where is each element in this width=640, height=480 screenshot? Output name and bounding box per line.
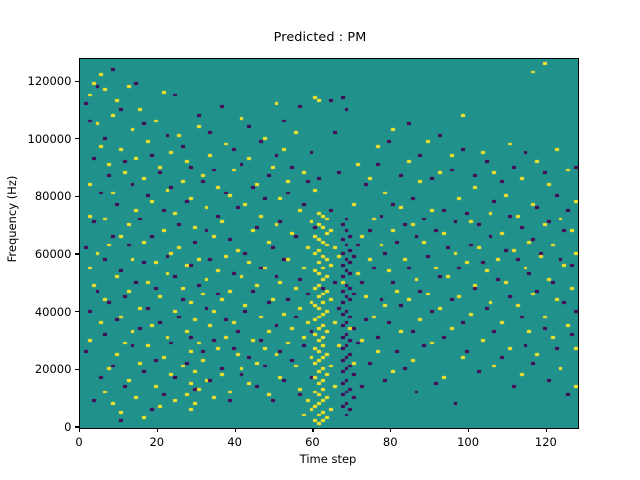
x-tick-label: 0 [75,435,82,449]
y-axis-label: Frequency (Hz) [5,0,19,459]
x-tick-label: 40 [227,435,242,449]
heatmap-canvas [80,59,578,428]
x-tick-label: 100 [457,435,479,449]
page-title: Predicted : PM [0,30,640,45]
x-axis-label: Time step [79,452,577,466]
x-tick-label: 80 [383,435,398,449]
x-tick-label: 60 [305,435,320,449]
x-tick-label: 20 [149,435,164,449]
x-tick-label: 120 [535,435,557,449]
matplotlib-figure: Predicted : PM 0204060801001200200004000… [0,0,640,480]
heatmap-axes [79,58,579,429]
